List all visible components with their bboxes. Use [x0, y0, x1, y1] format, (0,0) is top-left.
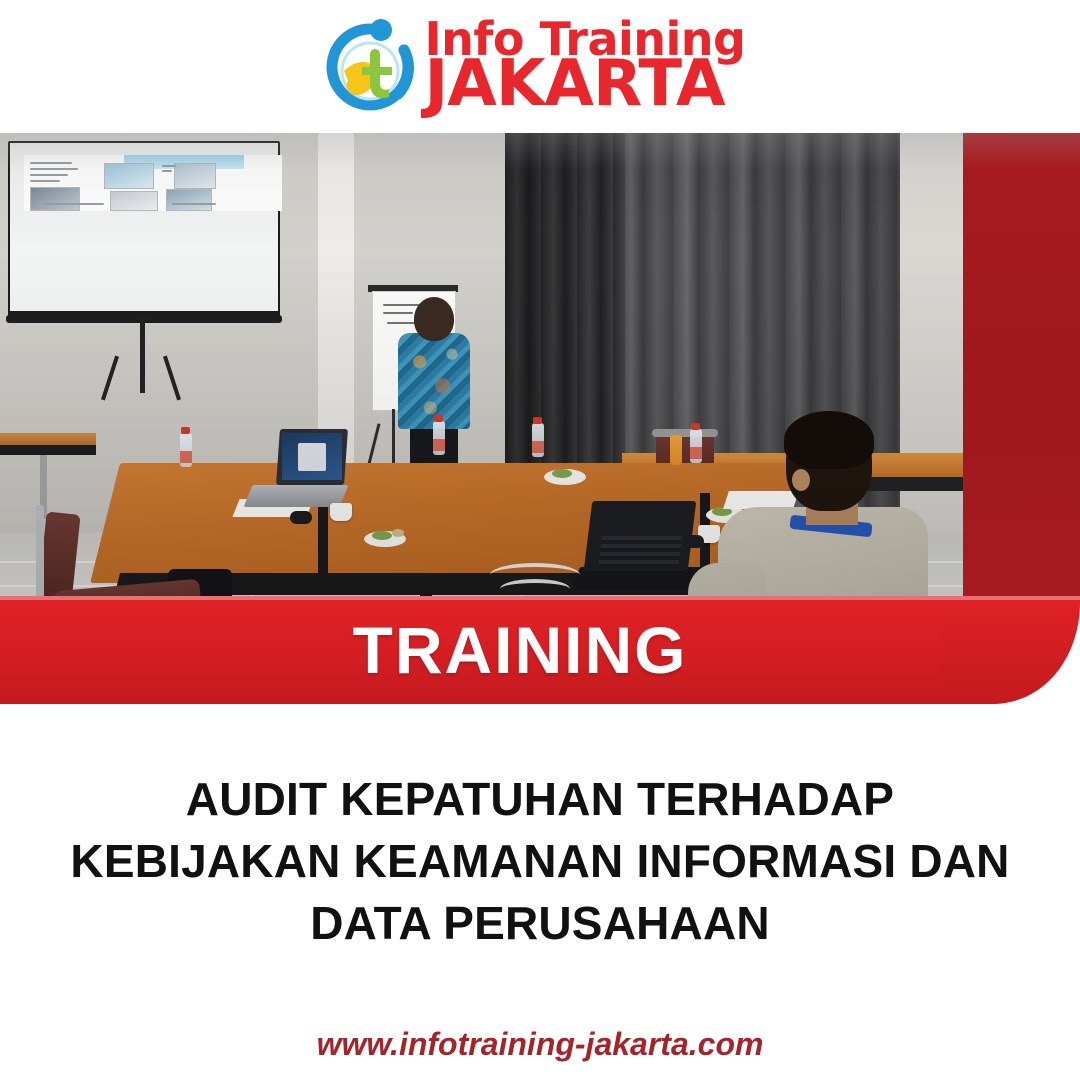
course-title-line-1: AUDIT KEPATUHAN TERHADAP — [40, 768, 1040, 830]
logo-wordmark: Info Training JAKARTA — [424, 18, 745, 114]
course-title-line-3: DATA PERUSAHAAN — [40, 892, 1040, 954]
content-area: AUDIT KEPATUHAN TERHADAP KEBIJAKAN KEAMA… — [0, 704, 1080, 1080]
banner-title: TRAINING — [0, 596, 1080, 704]
info-training-jakarta-logo-mark — [318, 15, 422, 119]
training-classroom-photo — [0, 133, 965, 601]
training-poster: Info Training JAKARTA — [0, 0, 1080, 1080]
right-red-panel — [963, 133, 1080, 605]
logo-line-jakarta: JAKARTA — [424, 55, 745, 115]
course-title-line-2: KEBIJAKAN KEAMANAN INFORMASI DAN — [40, 830, 1040, 892]
header-bar: Info Training JAKARTA — [0, 0, 1080, 133]
course-title: AUDIT KEPATUHAN TERHADAP KEBIJAKAN KEAMA… — [40, 768, 1040, 954]
training-banner: TRAINING — [0, 596, 1080, 704]
photo-vignette — [0, 133, 965, 601]
brand-logo[interactable]: Info Training JAKARTA — [318, 15, 745, 119]
website-url[interactable]: www.infotraining-jakarta.com — [0, 1026, 1080, 1063]
